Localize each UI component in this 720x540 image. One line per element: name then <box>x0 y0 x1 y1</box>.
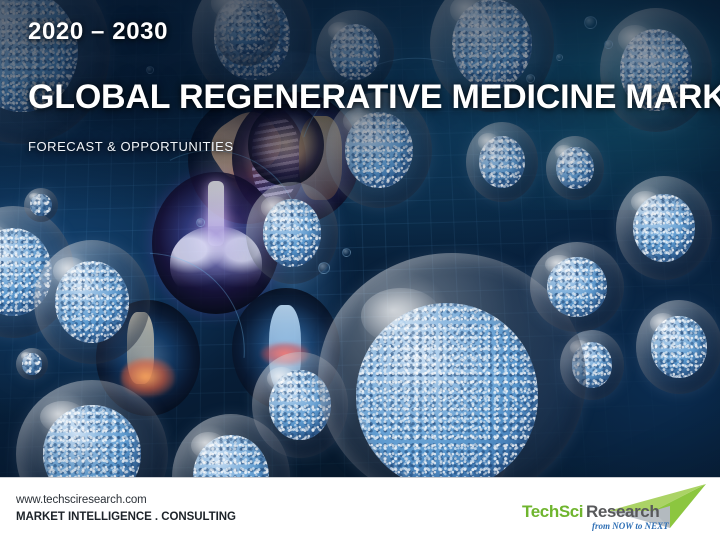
bubble <box>196 218 205 227</box>
stem-cell <box>24 188 58 222</box>
bubble <box>430 350 437 357</box>
stem-cell <box>530 242 624 332</box>
stem-cell-nucleus <box>30 194 52 216</box>
company-services-tagline: MARKET INTELLIGENCE . CONSULTING <box>16 509 236 526</box>
bubble <box>360 420 370 430</box>
stem-cell-nucleus <box>547 257 607 316</box>
stem-cell <box>16 348 48 380</box>
forecast-period: 2020 – 2030 <box>28 20 698 44</box>
stem-cell-nucleus <box>55 261 129 343</box>
stem-cell-nucleus <box>193 435 269 477</box>
report-cover-page: 2020 – 2030 GLOBAL REGENERATIVE MEDICINE… <box>0 0 720 540</box>
footer-text-block: www.techsciresearch.com MARKET INTELLIGE… <box>16 492 236 527</box>
page-title: GLOBAL REGENERATIVE MEDICINE MARKET <box>28 80 698 116</box>
stem-cell <box>636 300 720 394</box>
stem-cell-nucleus <box>263 199 322 266</box>
logo-slogan: from NOW to NEXT <box>592 521 669 531</box>
company-website-link[interactable]: www.techsciresearch.com <box>16 492 236 509</box>
stem-cell <box>34 240 150 364</box>
bubble <box>342 248 351 257</box>
techsci-research-logo[interactable]: TechSci Research from NOW to NEXT <box>520 484 706 534</box>
stem-cell-nucleus <box>356 303 538 477</box>
page-footer: www.techsciresearch.com MARKET INTELLIGE… <box>0 477 720 540</box>
stem-cell-nucleus <box>651 316 706 378</box>
cover-title-block: 2020 – 2030 GLOBAL REGENERATIVE MEDICINE… <box>28 20 698 154</box>
logo-word-research: Research <box>586 502 659 521</box>
stem-cell-nucleus <box>22 353 42 374</box>
logo-word-techsci: TechSci <box>522 502 583 521</box>
cover-hero-image: 2020 – 2030 GLOBAL REGENERATIVE MEDICINE… <box>0 0 720 477</box>
stem-cell-nucleus <box>633 194 694 263</box>
bubble <box>398 320 406 328</box>
page-subtitle: FORECAST & OPPORTUNITIES <box>28 139 698 154</box>
stem-cell <box>616 176 712 280</box>
stem-cell-nucleus <box>43 405 140 477</box>
bubble <box>318 262 330 274</box>
